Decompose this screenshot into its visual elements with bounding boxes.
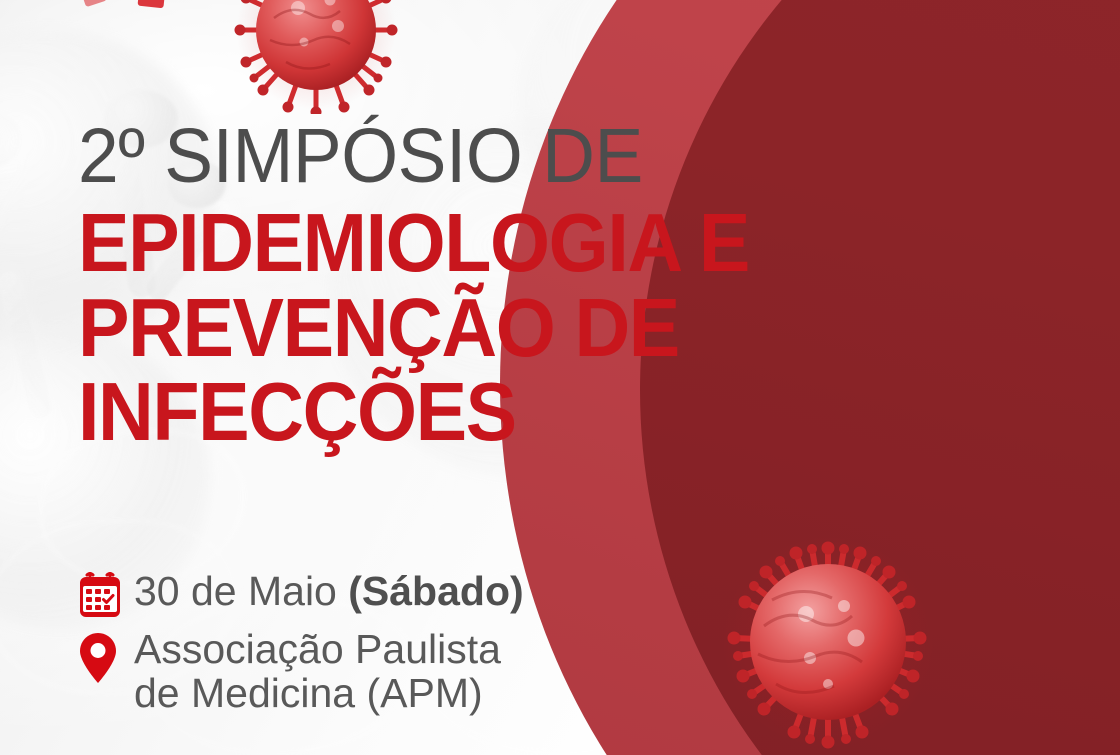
- map-pin-icon: [78, 626, 134, 684]
- event-date-row: 30 de Maio (Sábado): [78, 568, 718, 618]
- title-line-infeccoes: INFECÇÕES: [78, 370, 850, 455]
- event-venue-text: Associação Paulista de Medicina (APM): [134, 626, 501, 716]
- event-venue-row: Associação Paulista de Medicina (APM): [78, 626, 718, 716]
- venue-line-1: Associação Paulista: [134, 628, 501, 672]
- page-title-line-1: 2º SIMPÓSIO DE: [78, 118, 867, 195]
- title-block: 2º SIMPÓSIO DE EPIDEMIOLOGIA E PREVENÇÃO…: [78, 118, 908, 455]
- title-line-prevencao: PREVENÇÃO DE: [78, 286, 850, 371]
- virus-particle-top: [226, 0, 406, 114]
- calendar-icon: [78, 568, 134, 618]
- event-weekday: (Sábado): [348, 568, 523, 614]
- page-title-main: EPIDEMIOLOGIA E PREVENÇÃO DE INFECÇÕES: [78, 201, 850, 455]
- event-date-value: 30 de Maio: [134, 568, 348, 614]
- event-details: 30 de Maio (Sábado) Associação Paulista …: [78, 568, 718, 724]
- title-line-epidemiologia: EPIDEMIOLOGIA E: [78, 201, 850, 286]
- poster-canvas: 2º SIMPÓSIO DE EPIDEMIOLOGIA E PREVENÇÃO…: [0, 0, 1120, 755]
- venue-line-2: de Medicina (APM): [134, 672, 501, 716]
- virus-particle-bottom-right: [706, 534, 956, 755]
- event-date-text: 30 de Maio (Sábado): [134, 568, 524, 614]
